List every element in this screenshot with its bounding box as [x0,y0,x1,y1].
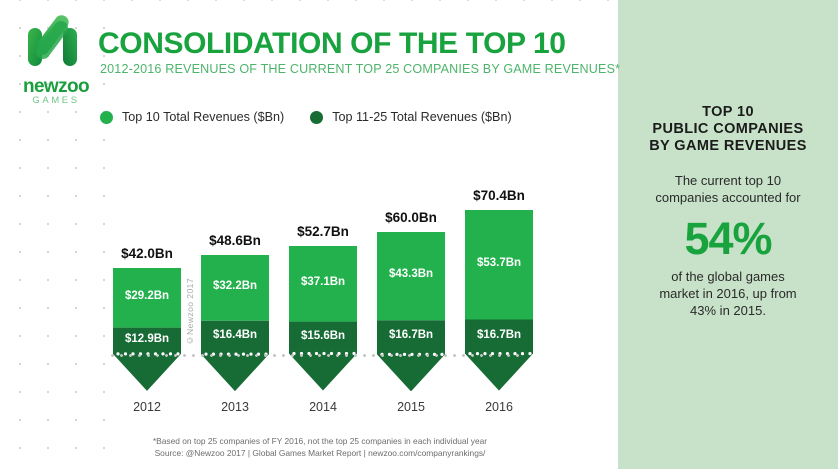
side-panel-content: TOP 10 PUBLIC COMPANIES BY GAME REVENUES… [618,104,838,319]
bar-group-2015[interactable]: $60.0Bn$43.3Bn$16.7Bn2015 [377,232,445,415]
side-panel-heading-line1: TOP 10 [632,104,824,121]
segment-label-top10-2016: $53.7Bn [465,257,533,269]
x-axis-label-2013: 2013 [201,400,269,414]
side-panel-body-bottom: of the global games market in 2016, up f… [632,268,824,319]
side-panel-heading-line2: PUBLIC COMPANIES [632,121,824,138]
bar-total-label-2013: $48.6Bn [201,233,269,248]
x-axis-label-2012: 2012 [113,400,181,414]
side-panel-heading-line3: BY GAME REVENUES [632,138,824,155]
segment-label-top11-25-2016: $16.7Bn [465,329,533,341]
segment-label-top10-2013: $32.2Bn [201,280,269,292]
segment-label-top11-25-2014: $15.6Bn [289,330,357,342]
footer-source-note: *Based on top 25 companies of FY 2016, n… [80,436,560,459]
segment-label-top10-2014: $37.1Bn [289,276,357,288]
bar-group-2013[interactable]: $48.6Bn$32.2Bn$16.4Bn2013 [201,255,269,415]
x-axis-label-2015: 2015 [377,400,445,414]
baseline-dot [521,352,524,355]
stacked-bar-chart: $42.0Bn$29.2Bn$12.9Bn2012 $48.6Bn$32.2Bn… [0,0,618,469]
side-panel-body-line2: companies accounted for [632,189,824,206]
bar-shape-2014 [289,246,357,391]
bar-shape-2015 [377,232,445,391]
side-panel-heading: TOP 10 PUBLIC COMPANIES BY GAME REVENUES [632,104,824,155]
bar-group-2012[interactable]: $42.0Bn$29.2Bn$12.9Bn2012 [113,268,181,415]
bar-total-label-2012: $42.0Bn [113,246,181,261]
footer-line-1: *Based on top 25 companies of FY 2016, n… [80,436,560,448]
side-panel-body-top: The current top 10 companies accounted f… [632,172,824,206]
x-axis-label-2014: 2014 [289,400,357,414]
footer-line-2: Source: @Newzoo 2017 | Global Games Mark… [80,448,560,460]
bar-shape-2012 [113,268,181,391]
baseline-dot [528,352,531,355]
side-panel-body-line4: market in 2016, up from [632,285,824,302]
side-panel-body-line5: 43% in 2015. [632,302,824,319]
bar-group-2016[interactable]: $70.4Bn$53.7Bn$16.7Bn2016 [465,210,533,415]
bar-total-label-2014: $52.7Bn [289,224,357,239]
segment-label-top11-25-2013: $16.4Bn [201,329,269,341]
bar-group-2014[interactable]: $52.7Bn$37.1Bn$15.6Bn2014 [289,246,357,415]
bar-total-label-2016: $70.4Bn [465,188,533,203]
side-panel-body-line3: of the global games [632,268,824,285]
side-panel-big-stat: 54% [632,215,824,263]
bar-total-label-2015: $60.0Bn [377,210,445,225]
segment-label-top10-2015: $43.3Bn [377,268,445,280]
side-panel: TOP 10 PUBLIC COMPANIES BY GAME REVENUES… [618,0,838,469]
segment-label-top10-2012: $29.2Bn [113,290,181,302]
segment-label-top11-25-2012: $12.9Bn [113,333,181,345]
segment-label-top11-25-2015: $16.7Bn [377,329,445,341]
x-axis-label-2016: 2016 [465,400,533,414]
copyright-watermark: ©Newzoo 2017 [185,278,195,345]
bar-shape-2013 [201,255,269,391]
infographic-canvas: TOP 10 PUBLIC COMPANIES BY GAME REVENUES… [0,0,838,469]
chart-baseline-dotted [108,354,520,357]
bar-shape-2016 [465,210,533,391]
side-panel-body-line1: The current top 10 [632,172,824,189]
